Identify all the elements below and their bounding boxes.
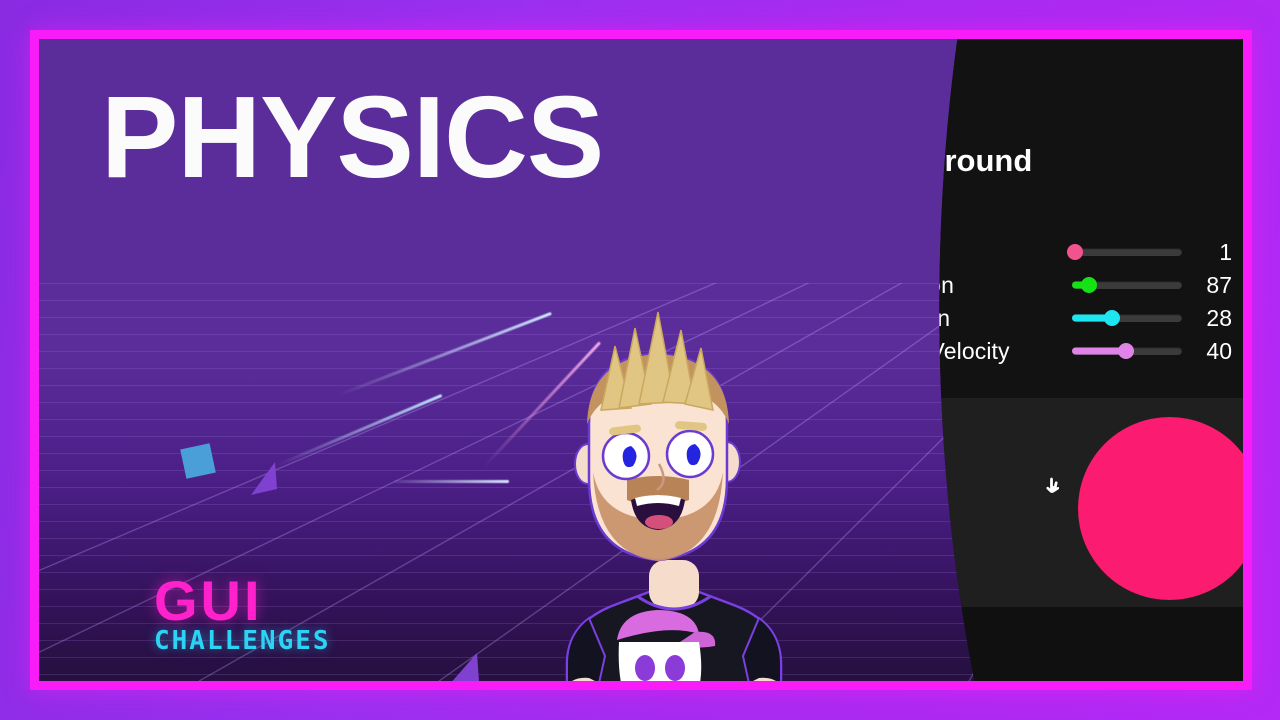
- control-value-mass: 1: [1192, 239, 1238, 266]
- slider-thumb[interactable]: [1067, 244, 1083, 260]
- slider-mass[interactable]: [1064, 236, 1192, 268]
- avatar: [509, 304, 839, 681]
- slider-thumb[interactable]: [1118, 343, 1134, 359]
- slider-thumb[interactable]: [1081, 277, 1097, 293]
- light-beam-3: [394, 480, 509, 483]
- gui-challenges-logo: GUI CHALLENGES: [154, 574, 331, 656]
- slider-track: [1072, 248, 1182, 256]
- slider-friction[interactable]: [1064, 302, 1192, 334]
- purple-triangle-upper: [245, 462, 279, 498]
- control-value-start-velocity: 40: [1192, 338, 1238, 365]
- slider-start-velocity[interactable]: [1064, 335, 1192, 367]
- blue-square: [180, 443, 216, 479]
- slide-frame: PHYSICS GUI CHALLENGES: [30, 30, 1252, 690]
- slider-tension[interactable]: [1064, 269, 1192, 301]
- slider-thumb[interactable]: [1104, 310, 1120, 326]
- control-value-friction: 28: [1192, 305, 1238, 332]
- logo-line-challenges: CHALLENGES: [154, 627, 331, 656]
- control-value-tension: 87: [1192, 272, 1238, 299]
- physics-ball[interactable]: [1078, 417, 1243, 600]
- spiky-hair: [601, 312, 713, 410]
- screen: PHYSICS GUI CHALLENGES: [0, 0, 1280, 720]
- page-title: PHYSICS: [101, 79, 603, 195]
- purple-triangle-lower: [443, 651, 481, 681]
- slide-canvas: PHYSICS GUI CHALLENGES: [39, 39, 1243, 681]
- logo-line-gui: GUI: [154, 574, 331, 627]
- pointing-hand-cursor: [1045, 475, 1063, 497]
